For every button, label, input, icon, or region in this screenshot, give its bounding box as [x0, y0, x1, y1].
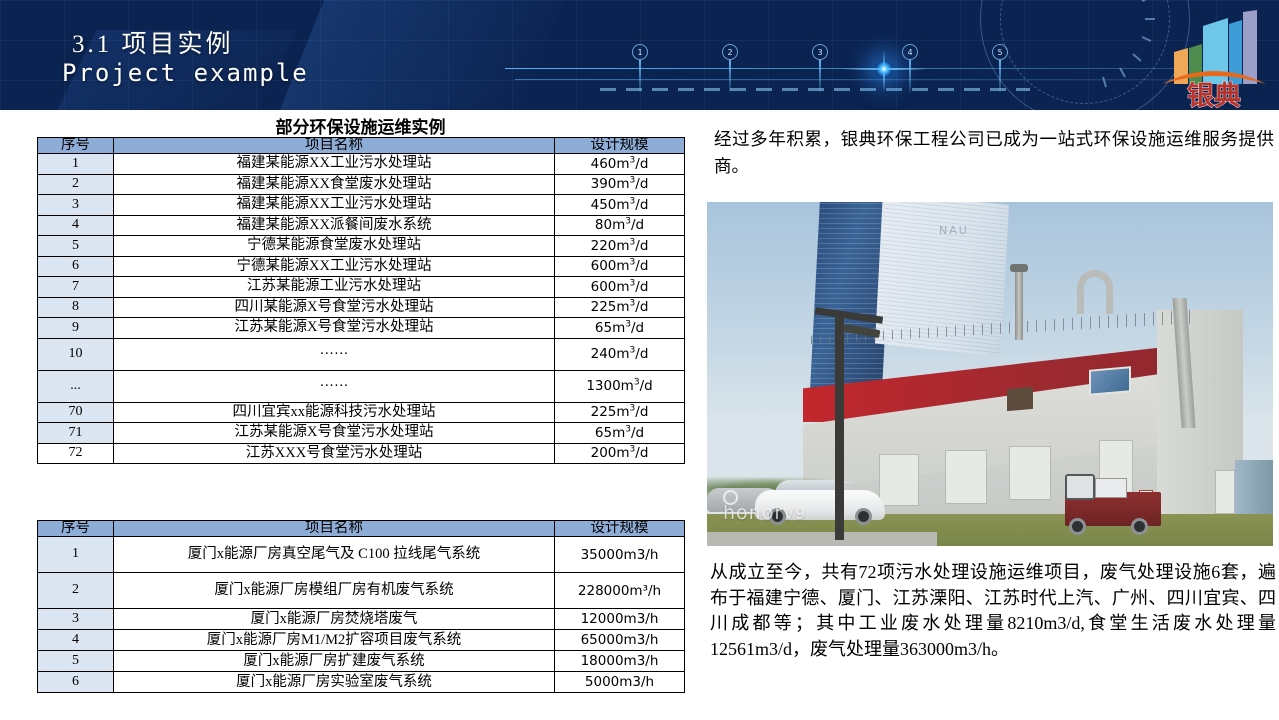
table1-cell-name: 江苏某能源X号食堂污水处理站: [114, 423, 555, 444]
table1-col-spec: 设计规模: [555, 138, 685, 154]
page-title-chinese: 3.1 项目实例: [72, 24, 234, 60]
table1-cell-name: 福建某能源XX派餐间废水系统: [114, 215, 555, 236]
timeline-node-1: 1: [632, 44, 648, 60]
table2-cell-spec: 5000m3/h: [555, 672, 685, 693]
table1-cell-name: 福建某能源XX工业污水处理站: [114, 195, 555, 216]
table1-cell-no: 4: [38, 215, 114, 236]
table2-cell-name: 厦门x能源厂房焚烧塔废气: [114, 609, 555, 630]
photo-cart-wheel-rear: [1131, 518, 1148, 535]
table-row: 3福建某能源XX工业污水处理站450m3/d: [38, 195, 685, 216]
table1-cell-spec: 65m3/d: [555, 318, 685, 339]
photo-upper-door: [1007, 387, 1033, 411]
photo-watermark: honorV9: [723, 502, 806, 524]
table1-cell-name: ······: [114, 370, 555, 402]
table1-col-name: 项目名称: [114, 138, 555, 154]
timeline-node-1-label: 1: [637, 48, 642, 57]
table-row: 2厦门x能源厂房模组厂房有机废气系统228000m³/h: [38, 573, 685, 609]
timeline-stem-1: [639, 60, 641, 92]
table-row: 71江苏某能源X号食堂污水处理站65m3/d: [38, 423, 685, 444]
timeline-stem-4: [909, 60, 911, 92]
photo-car-wheel-rear: [855, 508, 872, 525]
table2-cell-spec: 12000m3/h: [555, 609, 685, 630]
timeline-node-2: 2: [722, 44, 738, 60]
timeline-stem-3: [819, 60, 821, 92]
intro-paragraph: 经过多年积累，银典环保工程公司已成为一站式环保设施运维服务提供商。: [714, 126, 1274, 180]
table2-cell-spec: 65000m3/h: [555, 630, 685, 651]
table1-cell-spec: 225m3/d: [555, 297, 685, 318]
photo-door-1: [879, 454, 919, 506]
table2-header-row: 序号 项目名称 设计规模: [38, 521, 685, 537]
table-row: 6厦门x能源厂房实验室废气系统5000m3/h: [38, 672, 685, 693]
table1-cell-no: 6: [38, 256, 114, 277]
table1-cell-spec: 220m3/d: [555, 236, 685, 257]
photo-door-3: [1009, 446, 1051, 500]
photo-window: [1089, 366, 1131, 396]
table1-cell-no: 3: [38, 195, 114, 216]
table-row: 5厦门x能源厂房扩建废气系统18000m3/h: [38, 651, 685, 672]
timeline-node-3: 3: [812, 44, 828, 60]
page-title-english: Project example: [62, 59, 309, 87]
project-site-photo: NAU honorV9: [707, 202, 1273, 546]
table2-cell-spec: 18000m3/h: [555, 651, 685, 672]
table2-cell-no: 6: [38, 672, 114, 693]
photo-door-5: [1215, 470, 1235, 514]
table1-cell-spec: 460m3/d: [555, 154, 685, 175]
table1-cell-no: 2: [38, 174, 114, 195]
table1-cell-spec: 600m3/d: [555, 256, 685, 277]
table-row: ...······1300m3/d: [38, 370, 685, 402]
gauge-tick-marks-icon: [1010, 0, 1160, 94]
table2-cell-spec: 35000m3/h: [555, 537, 685, 573]
photo-exhaust-stack-cap: [1010, 264, 1028, 272]
table-row: 1福建某能源XX工业污水处理站460m3/d: [38, 154, 685, 175]
table1-cell-name: 江苏某能源X号食堂污水处理站: [114, 318, 555, 339]
table-row: 6宁德某能源XX工业污水处理站600m3/d: [38, 256, 685, 277]
table1-cell-no: ...: [38, 370, 114, 402]
table1-cell-no: 5: [38, 236, 114, 257]
photo-watermark-brand: honor: [723, 502, 783, 524]
table1-cell-name: 宁德某能源食堂废水处理站: [114, 236, 555, 257]
table1-cell-name: 福建某能源XX食堂废水处理站: [114, 174, 555, 195]
table-row: 9江苏某能源X号食堂污水处理站65m3/d: [38, 318, 685, 339]
table1-cell-name: 江苏XXX号食堂污水处理站: [114, 443, 555, 464]
table2-col-name: 项目名称: [114, 521, 555, 537]
table1-cell-name: 宁德某能源XX工业污水处理站: [114, 256, 555, 277]
glow-marker-dot: [875, 60, 893, 78]
timeline-stem-2: [729, 60, 731, 92]
photo-roof-duct: [1077, 270, 1113, 314]
table1-cell-name: 福建某能源XX工业污水处理站: [114, 154, 555, 175]
table1-title: 部分环保设施运维实例: [37, 113, 684, 138]
photo-light-pole: [835, 312, 844, 540]
photo-door-2: [945, 450, 987, 504]
exhaust-gas-facility-table: 序号 项目名称 设计规模 1厦门x能源厂房真空尾气及 C100 拉线尾气系统35…: [37, 520, 685, 693]
timeline-node-2-label: 2: [727, 48, 732, 57]
table-row: 2福建某能源XX食堂废水处理站390m3/d: [38, 174, 685, 195]
table2-cell-no: 2: [38, 573, 114, 609]
summary-paragraph: 从成立至今，共有72项污水处理设施运维项目，废气处理设施6套，遍布于福建宁德、厦…: [710, 560, 1276, 662]
timeline-node-4: 4: [902, 44, 918, 60]
table1-col-no: 序号: [38, 138, 114, 154]
table1-cell-no: 10: [38, 338, 114, 370]
table-row: 4福建某能源XX派餐间废水系统80m3/d: [38, 215, 685, 236]
table1-cell-no: 7: [38, 277, 114, 298]
table-row: 7江苏某能源工业污水处理站600m3/d: [38, 277, 685, 298]
photo-cart-wheel-front: [1069, 518, 1086, 535]
table2-cell-no: 3: [38, 609, 114, 630]
table1-cell-name: 四川宜宾xx能源科技污水处理站: [114, 402, 555, 423]
table2-cell-name: 厦门x能源厂房M1/M2扩容项目废气系统: [114, 630, 555, 651]
table1-cell-spec: 65m3/d: [555, 423, 685, 444]
table1-cell-name: ······: [114, 338, 555, 370]
table1-cell-no: 8: [38, 297, 114, 318]
table-row: 70四川宜宾xx能源科技污水处理站225m3/d: [38, 402, 685, 423]
table1-cell-spec: 600m3/d: [555, 277, 685, 298]
table1-cell-name: 江苏某能源工业污水处理站: [114, 277, 555, 298]
table1-cell-spec: 450m3/d: [555, 195, 685, 216]
table-row: 3厦门x能源厂房焚烧塔废气12000m3/h: [38, 609, 685, 630]
environmental-facility-table: 序号 项目名称 设计规模 1福建某能源XX工业污水处理站460m3/d2福建某能…: [37, 137, 685, 464]
table2-col-spec: 设计规模: [555, 521, 685, 537]
table1-cell-spec: 200m3/d: [555, 443, 685, 464]
table2-col-no: 序号: [38, 521, 114, 537]
banner-diagonal-shape-1: [260, 0, 581, 110]
table1-cell-spec: 1300m3/d: [555, 370, 685, 402]
table2-cell-name: 厦门x能源厂房扩建废气系统: [114, 651, 555, 672]
table1-cell-no: 72: [38, 443, 114, 464]
table-row: 10······240m3/d: [38, 338, 685, 370]
table2-cell-spec: 228000m³/h: [555, 573, 685, 609]
logo-text: 银典: [1187, 81, 1241, 108]
table-row: 4厦门x能源厂房M1/M2扩容项目废气系统65000m3/h: [38, 630, 685, 651]
timeline-node-4-label: 4: [907, 48, 912, 57]
table-row: 1厦门x能源厂房真空尾气及 C100 拉线尾气系统35000m3/h: [38, 537, 685, 573]
table-row: 72江苏XXX号食堂污水处理站200m3/d: [38, 443, 685, 464]
slide-header-banner: 1 2 3 4 5 3.1 项目实例 Project example: [0, 0, 1279, 110]
company-logo: 银典: [1158, 2, 1270, 108]
table1-header-row: 序号 项目名称 设计规模: [38, 138, 685, 154]
table1-cell-spec: 240m3/d: [555, 338, 685, 370]
table1-cell-no: 1: [38, 154, 114, 175]
table1-cell-spec: 225m3/d: [555, 402, 685, 423]
table1-cell-no: 71: [38, 423, 114, 444]
table2-cell-name: 厦门x能源厂房真空尾气及 C100 拉线尾气系统: [114, 537, 555, 573]
photo-exhaust-stack: [1015, 270, 1023, 340]
photo-utility-cart-cab: [1065, 474, 1095, 500]
table2-cell-no: 1: [38, 537, 114, 573]
photo-watermark-model: V9: [783, 504, 806, 523]
table1-cell-no: 9: [38, 318, 114, 339]
table2-cell-name: 厦门x能源厂房模组厂房有机废气系统: [114, 573, 555, 609]
photo-utility-cart-box: [1095, 478, 1127, 498]
timeline-node-3-label: 3: [817, 48, 822, 57]
table1-cell-spec: 80m3/d: [555, 215, 685, 236]
table1-cell-spec: 390m3/d: [555, 174, 685, 195]
table2-cell-name: 厦门x能源厂房实验室废气系统: [114, 672, 555, 693]
table1-cell-name: 四川某能源X号食堂污水处理站: [114, 297, 555, 318]
table2-cell-no: 5: [38, 651, 114, 672]
photo-road: [707, 532, 937, 546]
table1-cell-no: 70: [38, 402, 114, 423]
timeline-dashed-track: [600, 88, 1030, 91]
table2-cell-no: 4: [38, 630, 114, 651]
photo-tower-label: NAU: [939, 224, 969, 237]
table-row: 8四川某能源X号食堂污水处理站225m3/d: [38, 297, 685, 318]
table-row: 5宁德某能源食堂废水处理站220m3/d: [38, 236, 685, 257]
